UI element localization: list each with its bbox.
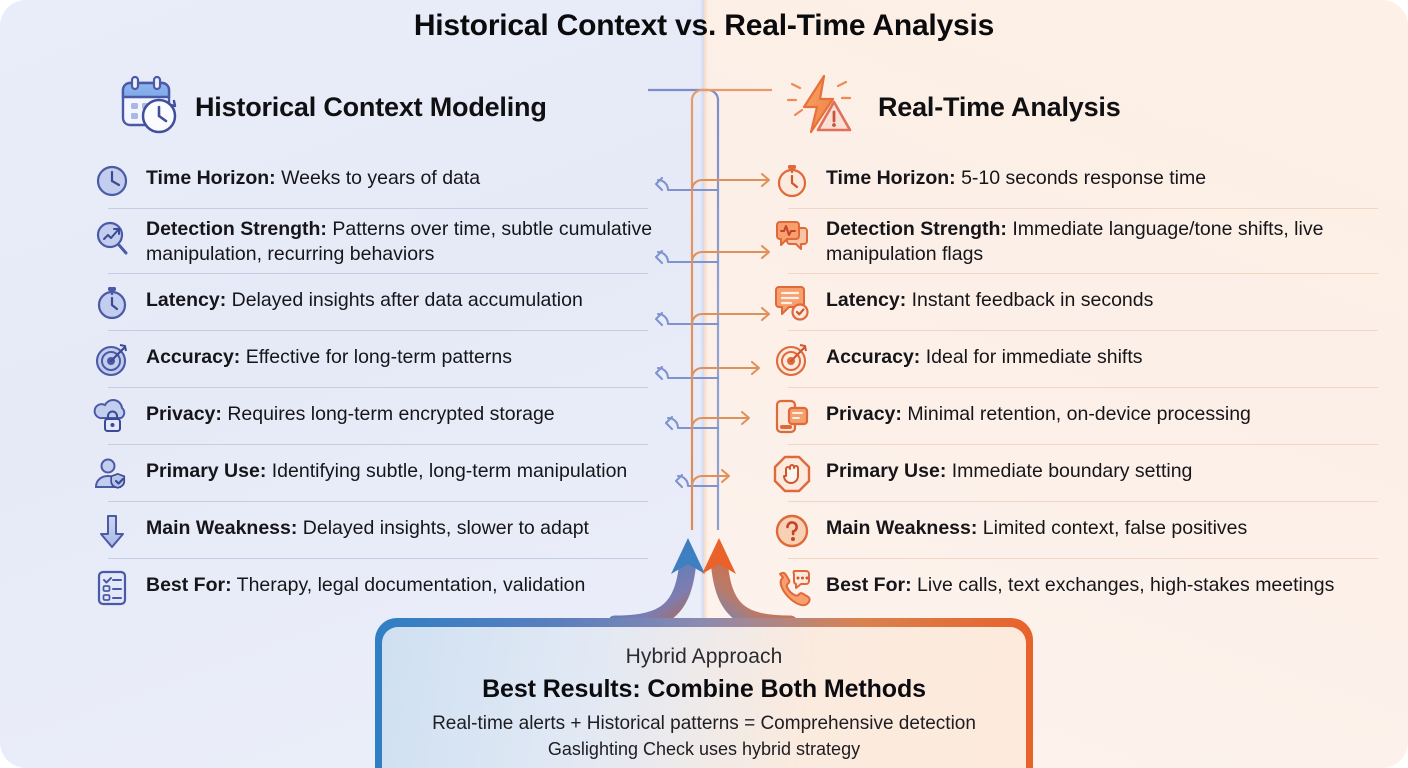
hybrid-line-2: Gaslighting Check uses hybrid strategy — [548, 739, 860, 760]
hybrid-approach-card: Hybrid Approach Best Results: Combine Bo… — [375, 618, 1033, 768]
row-label: Time Horizon: — [146, 167, 276, 189]
list-item: Best For: Therapy, legal documentation, … — [92, 559, 664, 616]
page-title: Historical Context vs. Real-Time Analysi… — [0, 9, 1408, 43]
cloud-lock-icon — [92, 397, 132, 437]
row-label: Privacy: — [826, 403, 902, 425]
stop-hand-icon — [772, 454, 812, 494]
right-panel-title: Real-Time Analysis — [878, 92, 1121, 123]
row-label: Time Horizon: — [826, 167, 956, 189]
left-attribute-list: Time Horizon: Weeks to years of data Det… — [92, 152, 664, 616]
target-icon — [772, 340, 812, 380]
row-label: Main Weakness: — [826, 517, 977, 539]
row-label: Best For: — [826, 574, 912, 596]
infographic-canvas: Historical Context vs. Real-Time Analysi… — [0, 0, 1408, 768]
mobile-device-icon — [772, 397, 812, 437]
row-label: Primary Use: — [826, 460, 946, 482]
list-item: Latency: Instant feedback in seconds — [772, 274, 1392, 331]
list-item: Main Weakness: Limited context, false po… — [772, 502, 1392, 559]
row-value: Identifying subtle, long-term manipulati… — [272, 460, 628, 482]
hybrid-line-1: Real-time alerts + Historical patterns =… — [432, 713, 976, 735]
list-item: Privacy: Minimal retention, on-device pr… — [772, 388, 1392, 445]
hybrid-card-body: Hybrid Approach Best Results: Combine Bo… — [382, 627, 1026, 768]
list-item: Primary Use: Immediate boundary setting — [772, 445, 1392, 502]
list-item: Primary Use: Identifying subtle, long-te… — [92, 445, 664, 502]
row-value: Delayed insights, slower to adapt — [303, 517, 589, 539]
left-panel-header: Historical Context Modeling — [115, 74, 547, 141]
row-label: Best For: — [146, 574, 232, 596]
right-attribute-list: Time Horizon: 5-10 seconds response time… — [772, 152, 1392, 616]
left-panel-title: Historical Context Modeling — [195, 92, 547, 123]
user-shield-icon — [92, 454, 132, 494]
checklist-icon — [92, 568, 132, 608]
row-value: Effective for long-term patterns — [246, 346, 512, 368]
list-item: Accuracy: Ideal for immediate shifts — [772, 331, 1392, 388]
row-value: Requires long-term encrypted storage — [227, 403, 554, 425]
row-label: Latency: — [826, 289, 906, 311]
list-item: Best For: Live calls, text exchanges, hi… — [772, 559, 1392, 616]
row-label: Accuracy: — [826, 346, 920, 368]
list-item: Time Horizon: 5-10 seconds response time — [772, 152, 1392, 209]
trend-search-icon — [92, 218, 132, 258]
down-arrow-icon — [92, 511, 132, 551]
row-value: Limited context, false positives — [983, 517, 1247, 539]
hybrid-headline: Best Results: Combine Both Methods — [482, 675, 926, 704]
list-item: Time Horizon: Weeks to years of data — [92, 152, 664, 209]
row-value: Weeks to years of data — [281, 167, 480, 189]
chat-pulse-icon — [772, 218, 812, 258]
stopwatch-icon — [92, 283, 132, 323]
row-value: Ideal for immediate shifts — [926, 346, 1143, 368]
list-item: Accuracy: Effective for long-term patter… — [92, 331, 664, 388]
target-icon — [92, 340, 132, 380]
list-item: Privacy: Requires long-term encrypted st… — [92, 388, 664, 445]
chat-check-icon — [772, 283, 812, 323]
row-value: Delayed insights after data accumulation — [232, 289, 583, 311]
row-value: Therapy, legal documentation, validation — [237, 574, 586, 596]
right-panel-header: Real-Time Analysis — [786, 74, 1121, 141]
clock-icon — [92, 161, 132, 201]
list-item: Main Weakness: Delayed insights, slower … — [92, 502, 664, 559]
row-label: Detection Strength: — [826, 218, 1007, 240]
stopwatch-icon — [772, 161, 812, 201]
row-label: Main Weakness: — [146, 517, 297, 539]
list-item: Detection Strength: Immediate language/t… — [772, 209, 1392, 274]
row-value: Minimal retention, on-device processing — [907, 403, 1251, 425]
hybrid-kicker: Hybrid Approach — [626, 645, 783, 669]
row-label: Latency: — [146, 289, 226, 311]
row-label: Accuracy: — [146, 346, 240, 368]
row-value: Instant feedback in seconds — [912, 289, 1154, 311]
row-value: 5-10 seconds response time — [961, 167, 1206, 189]
row-label: Detection Strength: — [146, 218, 327, 240]
row-value: Live calls, text exchanges, high-stakes … — [917, 574, 1334, 596]
row-value: Immediate boundary setting — [952, 460, 1193, 482]
list-item: Detection Strength: Patterns over time, … — [92, 209, 664, 274]
list-item: Latency: Delayed insights after data acc… — [92, 274, 664, 331]
calendar-clock-icon — [115, 74, 181, 141]
row-label: Privacy: — [146, 403, 222, 425]
row-label: Primary Use: — [146, 460, 266, 482]
hybrid-merge-arrows — [610, 498, 800, 638]
